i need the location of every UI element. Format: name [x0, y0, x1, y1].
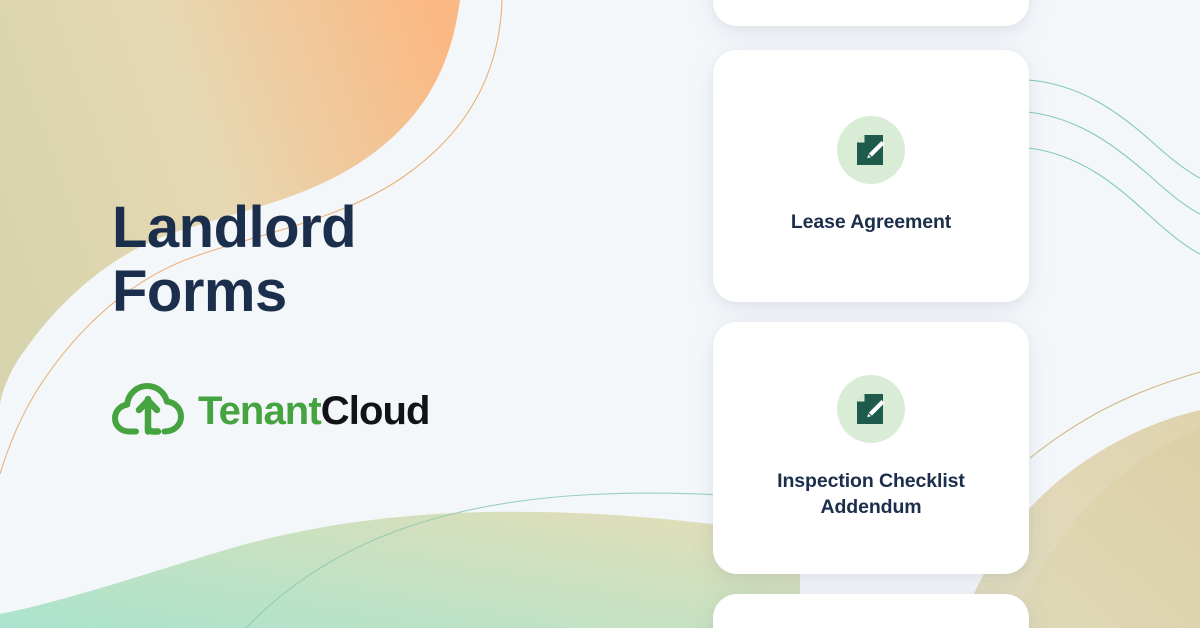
tenantcloud-cloud-logo-icon — [112, 382, 184, 440]
icon-bubble — [837, 116, 905, 184]
form-card-partial-top[interactable] — [713, 0, 1029, 26]
teal-wave-line-1 — [1028, 80, 1200, 178]
brand-name-cloud: Cloud — [321, 389, 430, 433]
page-title: Landlord Forms — [112, 196, 632, 324]
brand-wordmark: TenantCloud — [198, 391, 430, 431]
hero-block: Landlord Forms — [112, 196, 632, 324]
brand-name-tenant: Tenant — [198, 389, 321, 433]
teal-wave-line-2 — [1028, 112, 1200, 214]
document-edit-icon — [854, 392, 888, 426]
mint-khaki-gradient-blob — [0, 512, 800, 628]
form-card-list: Lease Agreement Inspection Checklist Add… — [713, 0, 1029, 628]
gold-accent-curve — [1030, 372, 1200, 458]
promo-banner: Landlord Forms TenantCloud — [0, 0, 1200, 628]
document-edit-icon — [854, 133, 888, 167]
brand-logo: TenantCloud — [112, 382, 430, 440]
form-card-lease-agreement[interactable]: Lease Agreement — [713, 50, 1029, 302]
form-card-title: Inspection Checklist Addendum — [777, 469, 965, 520]
form-card-inspection-checklist-addendum[interactable]: Inspection Checklist Addendum — [713, 322, 1029, 574]
khaki-gradient-blob — [1010, 428, 1200, 628]
form-card-title: Lease Agreement — [791, 210, 951, 236]
form-card-partial-bottom[interactable] — [713, 594, 1029, 628]
icon-bubble — [837, 375, 905, 443]
teal-wave-line-3 — [1028, 148, 1200, 254]
